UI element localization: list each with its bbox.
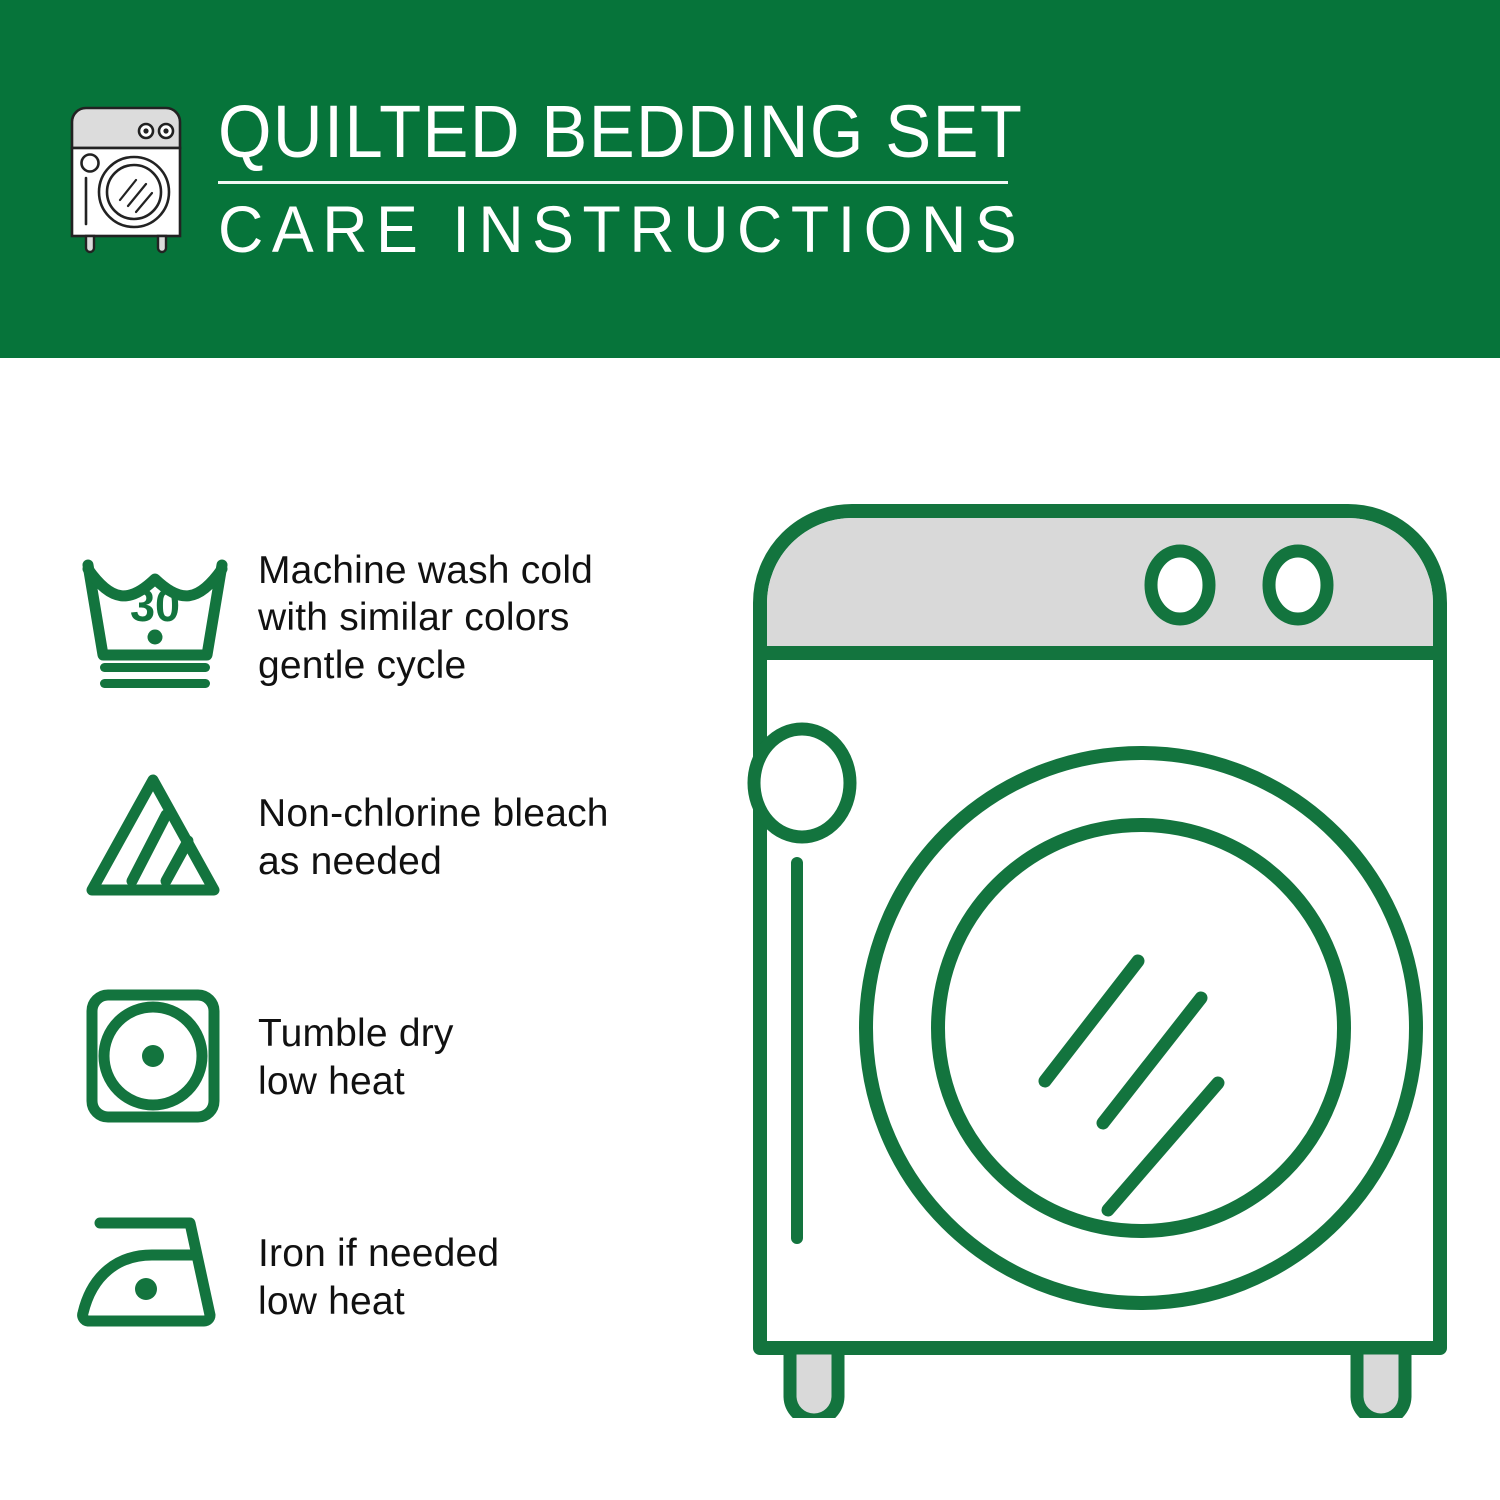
title-block: QUILTED BEDDING SET CARE INSTRUCTIONS (218, 92, 1084, 262)
list-item: Iron if needed low heat (70, 1168, 720, 1388)
list-item: Tumble dry low heat (70, 948, 720, 1168)
list-item-label: Tumble dry low heat (258, 1010, 454, 1105)
non-chlorine-bleach-icon (70, 763, 240, 913)
front-load-washing-machine-illustration (745, 498, 1455, 1418)
list-item: 30 Machine wash cold with similar colors… (70, 508, 720, 728)
label-line: Iron if needed (258, 1230, 499, 1278)
list-item: Non-chlorine bleach as needed (70, 728, 720, 948)
page-content: 30 Machine wash cold with similar colors… (0, 358, 1500, 1500)
svg-text:30: 30 (130, 580, 180, 631)
washing-machine-icon (62, 100, 190, 260)
care-instruction-list: 30 Machine wash cold with similar colors… (70, 508, 720, 1388)
list-item-label: Machine wash cold with similar colors ge… (258, 547, 593, 690)
label-line: low heat (258, 1278, 499, 1326)
page-title: QUILTED BEDDING SET (218, 96, 1023, 167)
label-line: gentle cycle (258, 642, 593, 690)
page-header: QUILTED BEDDING SET CARE INSTRUCTIONS (0, 0, 1500, 358)
iron-low-heat-icon (70, 1203, 240, 1353)
list-item-label: Iron if needed low heat (258, 1230, 499, 1325)
page-subtitle: CARE INSTRUCTIONS (218, 196, 1041, 262)
list-item-label: Non-chlorine bleach as needed (258, 790, 609, 885)
label-line: low heat (258, 1058, 454, 1106)
label-line: Tumble dry (258, 1010, 454, 1058)
machine-wash-30-icon: 30 (70, 543, 240, 693)
header-inner: QUILTED BEDDING SET CARE INSTRUCTIONS (62, 92, 1084, 262)
label-line: as needed (258, 838, 609, 886)
tumble-dry-low-icon (70, 983, 240, 1133)
label-line: with similar colors (258, 594, 593, 642)
label-line: Machine wash cold (258, 547, 593, 595)
label-line: Non-chlorine bleach (258, 790, 609, 838)
title-divider (218, 181, 1008, 184)
